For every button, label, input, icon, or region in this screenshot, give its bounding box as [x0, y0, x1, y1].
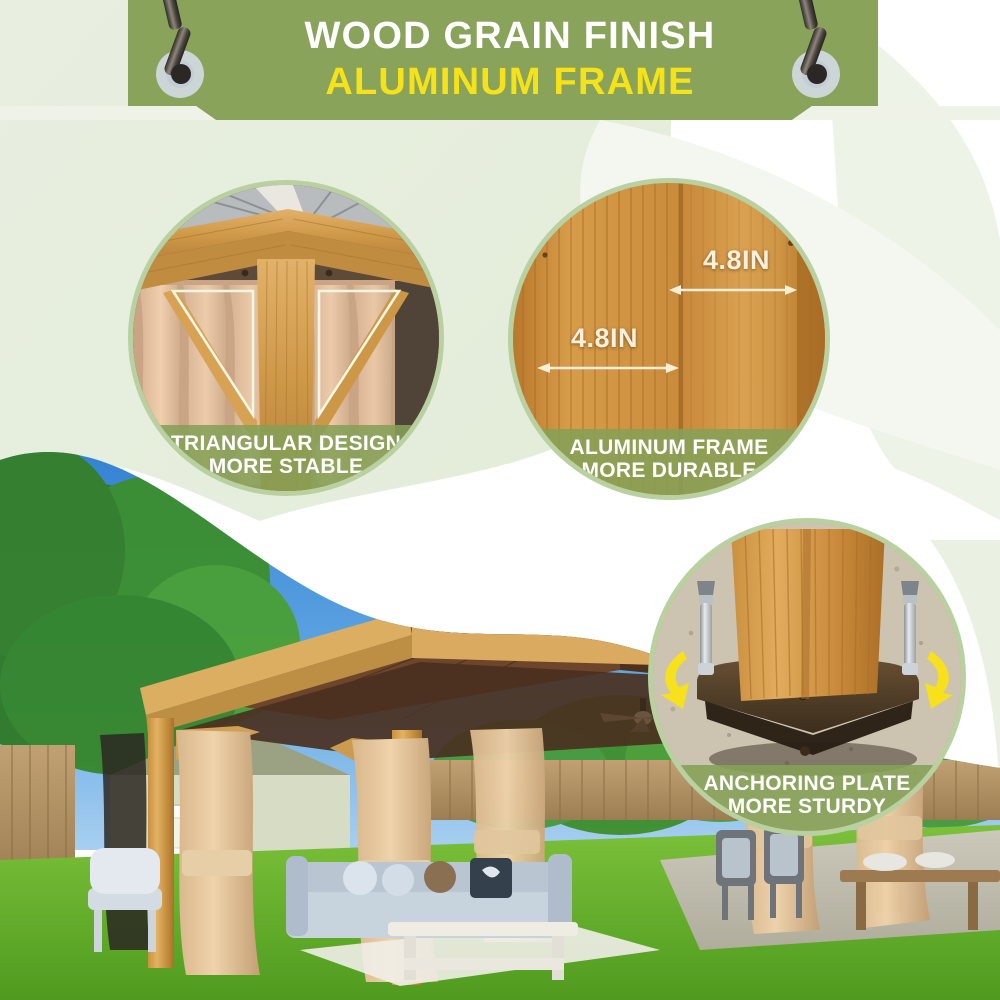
- dimension-label-top: 4.8IN: [703, 245, 770, 276]
- infographic-root: TRIANGULAR DESIGN MORE STABLE: [0, 0, 1000, 1000]
- header-banner: WOOD GRAIN FINISH ALUMINUM FRAME: [0, 0, 1000, 150]
- callout-2-label: ALUMINUM FRAME MORE DURABLE: [513, 429, 825, 495]
- dimension-arrow-bottom: [537, 359, 679, 377]
- callout-2-title-line2: MORE DURABLE: [517, 459, 821, 483]
- dimension-arrow-top: [669, 281, 797, 299]
- callout-triangular-design[interactable]: TRIANGULAR DESIGN MORE STABLE: [128, 180, 444, 496]
- dimension-label-bottom: 4.8IN: [571, 323, 638, 354]
- hook-icon: [150, 0, 214, 106]
- callout-3-title-line1: ANCHORING PLATE: [657, 772, 957, 796]
- hook-icon-right: [786, 0, 850, 106]
- callout-1-label: TRIANGULAR DESIGN MORE STABLE: [133, 425, 439, 491]
- callout-2-title-line1: ALUMINUM FRAME: [517, 436, 821, 460]
- hook-icon-left: [150, 0, 214, 106]
- callout-3-label: ANCHORING PLATE MORE STURDY: [653, 765, 961, 831]
- callout-1-title-line2: MORE STABLE: [137, 455, 435, 479]
- hook-icon: [786, 0, 850, 106]
- callout-anchoring-plate[interactable]: ANCHORING PLATE MORE STURDY: [648, 518, 966, 836]
- callout-1-title-line1: TRIANGULAR DESIGN: [137, 432, 435, 456]
- callout-3-title-line2: MORE STURDY: [657, 795, 957, 819]
- callout-aluminum-frame[interactable]: 4.8IN 4.8IN ALUMINUM FRAME MORE DURABLE: [508, 178, 830, 500]
